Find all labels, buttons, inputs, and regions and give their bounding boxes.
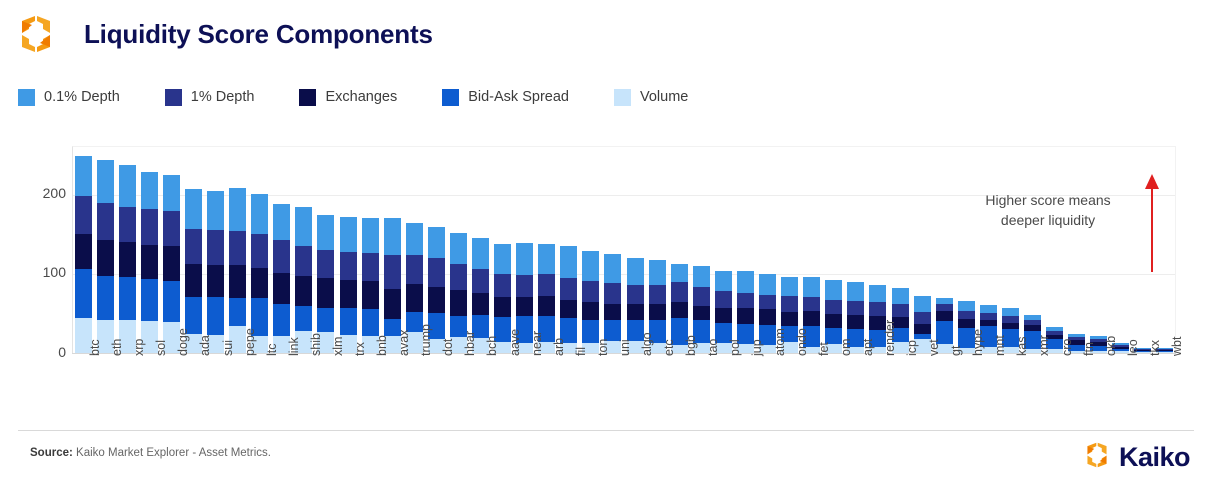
x-axis-tick-label: sui <box>221 340 235 356</box>
bar-segment[interactable] <box>75 269 92 318</box>
bar-segment[interactable] <box>516 297 533 316</box>
bar-segment[interactable] <box>229 298 246 326</box>
bar-segment[interactable] <box>693 306 710 320</box>
bar-segment[interactable] <box>362 281 379 310</box>
bar-segment[interactable] <box>163 211 180 246</box>
x-axis-tick-label: ftn <box>1082 342 1096 356</box>
x-axis-tick-label: near <box>530 331 544 356</box>
bar-segment[interactable] <box>163 175 180 212</box>
bar-segment[interactable] <box>75 196 92 234</box>
x-axis-tick-label: trx <box>353 342 367 356</box>
bar-segment[interactable] <box>450 290 467 316</box>
bar-segment[interactable] <box>759 274 776 295</box>
x-axis-tick-label: apt <box>861 339 875 356</box>
bar-segment[interactable] <box>803 311 820 326</box>
bar-segment[interactable] <box>671 264 688 282</box>
x-axis-tick-label: xrp <box>132 339 146 356</box>
bar-segment[interactable] <box>273 273 290 304</box>
bar-stack[interactable] <box>207 191 224 353</box>
footer-source: Source: Kaiko Market Explorer - Asset Me… <box>30 447 271 459</box>
x-axis-tick-label: etc <box>662 339 676 356</box>
legend-item[interactable]: Bid-Ask Spread <box>442 89 569 106</box>
x-axis-tick-label: link <box>287 337 301 356</box>
bar-segment[interactable] <box>781 277 798 296</box>
bar-segment[interactable] <box>759 295 776 309</box>
bar-stack[interactable] <box>362 218 379 353</box>
bar-segment[interactable] <box>671 282 688 302</box>
bar-segment[interactable] <box>406 284 423 313</box>
x-axis-tick-label: icp <box>905 340 919 356</box>
footer-source-text: Kaiko Market Explorer - Asset Metrics. <box>76 447 271 459</box>
bar-segment[interactable] <box>185 229 202 264</box>
bar-segment[interactable] <box>737 271 754 293</box>
legend-item-label: Bid-Ask Spread <box>468 89 569 105</box>
bar-segment[interactable] <box>825 300 842 314</box>
bar-segment[interactable] <box>892 304 909 317</box>
bar-segment[interactable] <box>428 287 445 313</box>
legend-swatch-icon <box>165 89 182 106</box>
x-axis-tick-label: dot <box>441 339 455 356</box>
x-axis-tick-label: xmr <box>1037 335 1051 356</box>
bar-segment[interactable] <box>958 301 975 311</box>
legend-swatch-icon <box>18 89 35 106</box>
bar-segment[interactable] <box>185 189 202 229</box>
x-axis-tick-label: om <box>839 339 853 356</box>
x-axis-labels: btcethxrpsoldogeadasuipepeltclinkshibxlm… <box>72 356 1176 418</box>
bar-segment[interactable] <box>715 271 732 291</box>
x-axis-tick-label: eth <box>110 339 124 356</box>
x-axis-tick-label: jup <box>750 339 764 356</box>
x-axis-tick-label: shib <box>309 333 323 356</box>
bar-segment[interactable] <box>251 234 268 268</box>
bar-segment[interactable] <box>737 293 754 307</box>
bar-segment[interactable] <box>207 191 224 231</box>
x-axis-tick-label: gt <box>949 346 963 356</box>
bar-segment[interactable] <box>406 255 423 284</box>
bar-segment[interactable] <box>119 277 136 320</box>
bar-segment[interactable] <box>119 165 136 206</box>
bar-segment[interactable] <box>295 207 312 246</box>
bar-segment[interactable] <box>362 309 379 335</box>
bar-segment[interactable] <box>472 293 489 315</box>
bar-segment[interactable] <box>869 302 886 316</box>
bar-segment[interactable] <box>251 194 268 234</box>
x-axis-tick-label: atom <box>773 328 787 356</box>
x-axis-tick-label: btc <box>88 339 102 356</box>
x-axis-tick-label: tkx <box>1148 340 1162 356</box>
bar-segment[interactable] <box>759 309 776 325</box>
bar-segment[interactable] <box>472 238 489 269</box>
bar-segment[interactable] <box>715 291 732 308</box>
bar-segment[interactable] <box>406 223 423 255</box>
x-axis-tick-label: aave <box>508 329 522 356</box>
x-axis-tick-label: ltc <box>265 344 279 357</box>
bar-segment[interactable] <box>914 324 931 334</box>
bar-segment[interactable] <box>604 254 621 283</box>
x-axis-tick-label: xlm <box>331 337 345 356</box>
bar-segment[interactable] <box>825 314 842 328</box>
bar-segment[interactable] <box>185 264 202 297</box>
bar-segment[interactable] <box>251 268 268 298</box>
x-axis-tick-label: fet <box>817 342 831 356</box>
x-axis-tick-label: okb <box>1104 336 1118 356</box>
bar-segment[interactable] <box>207 265 224 298</box>
x-axis-tick-label: vet <box>927 339 941 356</box>
bar-segment[interactable] <box>384 218 401 255</box>
bar-stack[interactable] <box>141 172 158 353</box>
bar-segment[interactable] <box>737 308 754 325</box>
bar-segment[interactable] <box>825 280 842 300</box>
bar-series-container <box>72 146 1176 353</box>
x-axis-tick-label: ondo <box>795 328 809 356</box>
bar-segment[interactable] <box>538 244 555 274</box>
legend-item[interactable]: 1% Depth <box>165 89 255 106</box>
legend-item-label: 0.1% Depth <box>44 89 120 105</box>
annotation-text: Higher score means deeper liquidity <box>958 190 1138 230</box>
x-axis-tick-label: wbt <box>1170 337 1184 356</box>
bar-segment[interactable] <box>317 250 334 278</box>
x-axis-tick-label: ton <box>596 339 610 356</box>
footer-logo-text: Kaiko <box>1119 442 1190 473</box>
bar-segment[interactable] <box>229 188 246 231</box>
y-tick-label: 100 <box>16 264 66 280</box>
bar-segment[interactable] <box>450 233 467 264</box>
x-axis-tick-label: algo <box>640 332 654 356</box>
bar-segment[interactable] <box>582 302 599 320</box>
bar-segment[interactable] <box>649 260 666 285</box>
bar-segment[interactable] <box>847 301 864 315</box>
bar-stack[interactable] <box>97 160 114 353</box>
footer-logo: Kaiko <box>1082 440 1190 475</box>
bar-segment[interactable] <box>560 300 577 318</box>
bar-segment[interactable] <box>97 203 114 240</box>
bar-segment[interactable] <box>627 258 644 284</box>
page-title: Liquidity Score Components <box>84 19 433 50</box>
x-axis-tick-label: render <box>883 320 897 356</box>
x-axis-tick-label: doge <box>176 328 190 356</box>
bar-segment[interactable] <box>627 304 644 320</box>
bar-segment[interactable] <box>229 265 246 298</box>
y-tick-label: 200 <box>16 185 66 201</box>
legend-swatch-icon <box>299 89 316 106</box>
bar-segment[interactable] <box>340 308 357 334</box>
bar-segment[interactable] <box>936 311 953 321</box>
legend-item-label: Exchanges <box>325 89 397 105</box>
bar-segment[interactable] <box>295 246 312 275</box>
bar-segment[interactable] <box>141 209 158 245</box>
bar-segment[interactable] <box>119 207 136 243</box>
bar-segment[interactable] <box>97 160 114 202</box>
bar-segment[interactable] <box>914 296 931 312</box>
kaiko-logo-icon <box>14 12 58 56</box>
chart-legend: 0.1% Depth1% DepthExchangesBid-Ask Sprea… <box>18 85 1198 109</box>
legend-swatch-icon <box>442 89 459 106</box>
x-axis-tick-label: pepe <box>243 328 257 356</box>
bar-segment[interactable] <box>273 304 290 336</box>
bar-segment[interactable] <box>560 278 577 299</box>
bar-segment[interactable] <box>362 253 379 281</box>
x-axis-tick-label: bnb <box>375 335 389 356</box>
bar-segment[interactable] <box>141 245 158 279</box>
bar-segment[interactable] <box>1002 316 1019 323</box>
bar-stack[interactable] <box>163 175 180 353</box>
bar-segment[interactable] <box>627 285 644 305</box>
bar-segment[interactable] <box>494 274 511 297</box>
bar-segment[interactable] <box>317 278 334 308</box>
bar-segment[interactable] <box>715 308 732 323</box>
bar-segment[interactable] <box>362 218 379 253</box>
bar-segment[interactable] <box>516 275 533 297</box>
bar-segment[interactable] <box>958 319 975 329</box>
chart-page: Liquidity Score Components 0.1% Depth1% … <box>0 0 1212 484</box>
bar-segment[interactable] <box>914 312 931 324</box>
bar-segment[interactable] <box>207 297 224 334</box>
legend-item[interactable]: Volume <box>614 89 688 106</box>
bar-segment[interactable] <box>560 246 577 278</box>
annotation-line-1: Higher score means <box>958 190 1138 210</box>
bar-segment[interactable] <box>141 172 158 209</box>
bar-stack[interactable] <box>75 156 92 353</box>
bar-segment[interactable] <box>803 297 820 311</box>
y-tick-label: 0 <box>16 344 66 360</box>
bar-segment[interactable] <box>693 266 710 287</box>
bar-segment[interactable] <box>384 255 401 288</box>
bar-segment[interactable] <box>340 217 357 252</box>
bar-segment[interactable] <box>428 258 445 287</box>
bar-segment[interactable] <box>384 289 401 319</box>
bar-segment[interactable] <box>317 308 334 332</box>
bar-segment[interactable] <box>781 312 798 326</box>
bar-segment[interactable] <box>141 279 158 321</box>
bar-segment[interactable] <box>538 274 555 295</box>
bar-segment[interactable] <box>892 288 909 305</box>
bar-segment[interactable] <box>340 252 357 280</box>
bar-segment[interactable] <box>847 315 864 329</box>
x-axis-tick-label: ada <box>198 335 212 356</box>
bar-segment[interactable] <box>516 243 533 275</box>
bar-segment[interactable] <box>428 227 445 258</box>
bar-segment[interactable] <box>119 242 136 276</box>
x-axis-tick-label: cro <box>1060 339 1074 356</box>
bar-segment[interactable] <box>273 240 290 273</box>
bar-segment[interactable] <box>163 246 180 280</box>
x-axis-tick-label: sol <box>154 340 168 356</box>
y-axis-title: Score <box>0 201 3 238</box>
bar-segment[interactable] <box>869 285 886 302</box>
bar-segment[interactable] <box>958 311 975 319</box>
bar-segment[interactable] <box>317 215 334 251</box>
bar-segment[interactable] <box>75 156 92 197</box>
bar-segment[interactable] <box>693 287 710 306</box>
bar-segment[interactable] <box>671 302 688 318</box>
bar-segment[interactable] <box>494 297 511 317</box>
bar-segment[interactable] <box>980 313 997 320</box>
legend-item-label: 1% Depth <box>191 89 255 105</box>
page-header: Liquidity Score Components <box>0 0 1212 68</box>
bar-stack[interactable] <box>295 207 312 353</box>
bar-segment[interactable] <box>229 231 246 265</box>
x-axis-tick-label: bgb <box>684 335 698 356</box>
bar-segment[interactable] <box>295 276 312 306</box>
bar-stack[interactable] <box>119 165 136 353</box>
x-axis-tick-label: mnt <box>993 335 1007 356</box>
annotation-line-2: deeper liquidity <box>958 210 1138 230</box>
bar-segment[interactable] <box>1002 308 1019 316</box>
bar-segment[interactable] <box>604 283 621 304</box>
bar-stack[interactable] <box>340 217 357 353</box>
x-axis-tick-label: bch <box>485 336 499 356</box>
bar-segment[interactable] <box>207 230 224 264</box>
bar-segment[interactable] <box>649 285 666 304</box>
legend-item-label: Volume <box>640 89 688 105</box>
x-axis-tick-label: hbar <box>463 331 477 356</box>
kaiko-logo-icon <box>1082 440 1112 475</box>
x-axis-tick-label: pol <box>728 339 742 356</box>
x-axis-tick-label: kas <box>1015 337 1029 356</box>
x-axis-tick-label: uni <box>618 339 632 356</box>
x-axis-tick-label: tao <box>706 339 720 356</box>
x-axis-tick-label: trump <box>419 324 433 356</box>
bar-segment[interactable] <box>97 240 114 276</box>
x-axis-tick-label: fil <box>574 347 588 356</box>
x-axis-tick-label: avax <box>397 330 411 356</box>
bar-segment[interactable] <box>538 296 555 317</box>
bar-segment[interactable] <box>494 244 511 274</box>
x-axis-tick-label: leo <box>1126 339 1140 356</box>
bar-segment[interactable] <box>649 304 666 320</box>
footer-source-label: Source: <box>30 447 73 459</box>
up-arrow-icon <box>1140 172 1164 272</box>
bar-segment[interactable] <box>472 269 489 292</box>
x-axis-tick-label: arb <box>552 338 566 356</box>
x-axis-tick-label: hype <box>971 329 985 356</box>
bar-segment[interactable] <box>97 276 114 320</box>
bar-segment[interactable] <box>295 306 312 331</box>
footer-divider <box>18 430 1194 431</box>
bar-segment[interactable] <box>803 277 820 297</box>
legend-swatch-icon <box>614 89 631 106</box>
bar-segment[interactable] <box>273 204 290 240</box>
bar-segment[interactable] <box>582 281 599 302</box>
legend-item[interactable]: Exchanges <box>299 89 397 106</box>
bar-segment[interactable] <box>582 251 599 281</box>
bar-segment[interactable] <box>163 281 180 322</box>
legend-item[interactable]: 0.1% Depth <box>18 89 120 106</box>
bar-segment[interactable] <box>75 234 92 269</box>
bar-segment[interactable] <box>340 280 357 309</box>
bar-segment[interactable] <box>980 305 997 313</box>
bar-segment[interactable] <box>604 304 621 321</box>
bar-stack[interactable] <box>273 204 290 353</box>
bar-segment[interactable] <box>450 264 467 290</box>
bar-segment[interactable] <box>781 296 798 311</box>
bar-segment[interactable] <box>847 282 864 301</box>
